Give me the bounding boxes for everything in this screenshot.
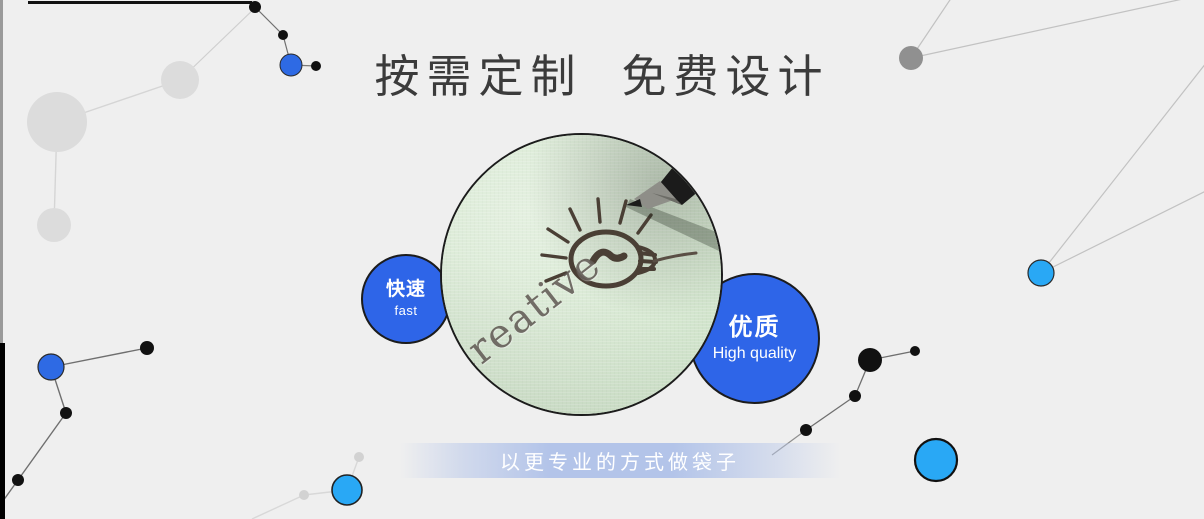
tagline-ribbon: 以更专业的方式做袋子 — [400, 443, 840, 478]
cyan-node-bottom-right — [915, 439, 957, 481]
creative-photo: creative — [440, 133, 723, 416]
dark-node-right-b — [910, 346, 920, 356]
dark-node-top-b — [278, 30, 288, 40]
dark-node-left-a — [140, 341, 154, 355]
feature-bubble-quality-cn: 优质 — [729, 313, 781, 343]
tagline-text: 以更专业的方式做袋子 — [500, 446, 740, 475]
dark-node-left-b — [60, 407, 72, 419]
feature-bubble-fast[interactable]: 快速 fast — [361, 254, 451, 344]
top-rule — [28, 1, 252, 4]
feature-bubble-fast-en: fast — [395, 301, 418, 320]
feature-bubble-fast-cn: 快速 — [386, 278, 426, 301]
page-title: 按需定制 免费设计 — [0, 48, 1204, 106]
feature-bubble-quality-en: High quality — [713, 343, 797, 365]
dark-node-right-d — [800, 424, 812, 436]
blue-node-left — [38, 354, 64, 380]
pen-icon — [590, 133, 723, 279]
grey-dot-bottom-a — [354, 452, 364, 462]
grey-node-small-left — [37, 208, 71, 242]
cyan-node-right — [1028, 260, 1054, 286]
cyan-node-bottom-left — [332, 475, 362, 505]
left-rail-black — [0, 343, 5, 519]
grey-dot-bottom-b — [299, 490, 309, 500]
dark-node-right-c — [849, 390, 861, 402]
dark-node-right-a — [858, 348, 882, 372]
dark-node-left-c — [12, 474, 24, 486]
banner-canvas: 按需定制 免费设计 — [0, 0, 1204, 519]
